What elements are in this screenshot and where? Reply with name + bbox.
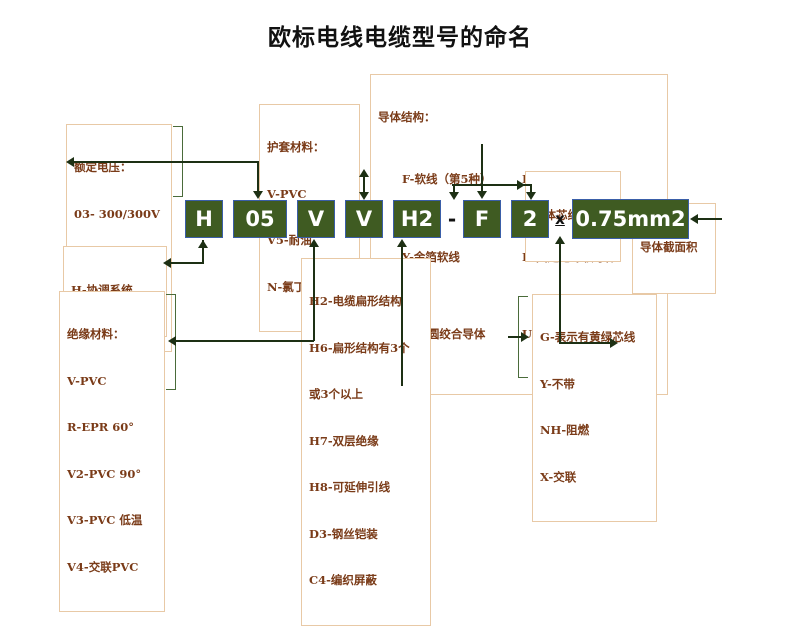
code-block-voltage[interactable]: 05 <box>233 200 287 238</box>
special-codes-connector-v <box>559 240 561 344</box>
conductor-structure-header: 导体结构： <box>378 110 660 126</box>
rated-voltage-line-1: 03- 300/300V <box>74 207 164 223</box>
code-block-conductor[interactable]: F <box>463 200 501 238</box>
core-count-arrowhead-down2 <box>526 192 536 200</box>
voltage-arrowhead <box>253 191 263 199</box>
sheath-arrowhead-down <box>359 192 369 200</box>
insulation-material-box: 绝缘材料： V-PVC R-EPR 60° V2-PVC 90° V3-PVC … <box>59 291 165 612</box>
insulation-material-line-3: V2-PVC 90° <box>67 467 157 483</box>
special-codes-feed-arrow <box>521 332 529 342</box>
insulation-material-line-2: R-EPR 60° <box>67 420 157 436</box>
special-codes-arrowhead-up <box>555 236 565 244</box>
voltage-connector-drop <box>257 161 259 192</box>
insulation-arrowhead-up <box>309 239 319 247</box>
structure-codes-line-7: C4-编织屏蔽 <box>309 573 423 589</box>
cross-section-label: 导体截面积 <box>640 240 708 256</box>
special-codes-box: G-表示有黄绿芯线 Y-不带 NH-阻燃 X-交联 <box>532 294 657 522</box>
core-count-arrowhead-right <box>517 180 525 190</box>
page-title: 欧标电线电缆型号的命名 <box>0 18 800 52</box>
sheath-arrowhead-up <box>359 169 369 177</box>
harmonized-arrowhead-up <box>198 240 208 248</box>
insulation-material-header: 绝缘材料： <box>67 327 157 343</box>
code-block-sheath[interactable]: V <box>345 200 383 238</box>
code-block-harmonized[interactable]: H <box>185 200 223 238</box>
voltage-connector-top <box>73 161 259 163</box>
structure-codes-line-4: H7-双层绝缘 <box>309 434 423 450</box>
special-codes-line-2: Y-不带 <box>540 377 649 393</box>
structure-codes-line-3: 或3个以上 <box>309 387 423 403</box>
special-codes-line-3: NH-阻燃 <box>540 423 649 439</box>
structure-codes-box: H2-电缆扁形结构 H6-扁形结构有3个 或3个以上 H7-双层绝缘 H8-可延… <box>301 258 431 626</box>
special-codes-line-4: X-交联 <box>540 470 649 486</box>
structure-arrowhead <box>397 239 407 247</box>
structure-codes-line-6: D3-钢丝铠装 <box>309 527 423 543</box>
code-block-structure[interactable]: H2 <box>393 200 441 238</box>
insulation-arrowhead-left <box>168 336 176 346</box>
special-codes-connector-h <box>559 342 615 344</box>
diagram-canvas: 欧标电线电缆型号的命名 额定电压： 03- 300/300V 05- 300/5… <box>0 0 800 415</box>
core-count-side-bracket <box>614 300 615 370</box>
code-multiply-symbol: x <box>553 200 567 238</box>
insulation-connector-h <box>175 340 314 342</box>
core-count-arrowhead-down <box>449 192 459 200</box>
insulation-material-line-5: V4-交联PVC <box>67 560 157 576</box>
harmonized-connector-h <box>170 262 204 264</box>
harmonized-arrowhead <box>163 258 171 268</box>
structure-codes-line-5: H8-可延伸引线 <box>309 480 423 496</box>
code-separator-dash: - <box>444 200 460 238</box>
code-block-area[interactable]: 0.75mm2 <box>572 199 689 239</box>
cross-section-arrowhead <box>690 214 698 224</box>
cross-section-connector-h <box>694 218 722 220</box>
code-block-insulation[interactable]: V <box>297 200 335 238</box>
conductor-arrowhead <box>477 191 487 199</box>
insulation-connector-v <box>313 246 315 341</box>
structure-codes-line-2: H6-扁形结构有3个 <box>309 341 423 357</box>
code-block-cores[interactable]: 2 <box>511 200 549 238</box>
sheath-material-header: 护套材料： <box>267 140 352 156</box>
insulation-material-line-1: V-PVC <box>67 374 157 390</box>
insulation-material-line-4: V3-PVC 低温 <box>67 513 157 529</box>
structure-connector-v <box>401 246 403 386</box>
structure-codes-line-1: H2-电缆扁形结构 <box>309 294 423 310</box>
